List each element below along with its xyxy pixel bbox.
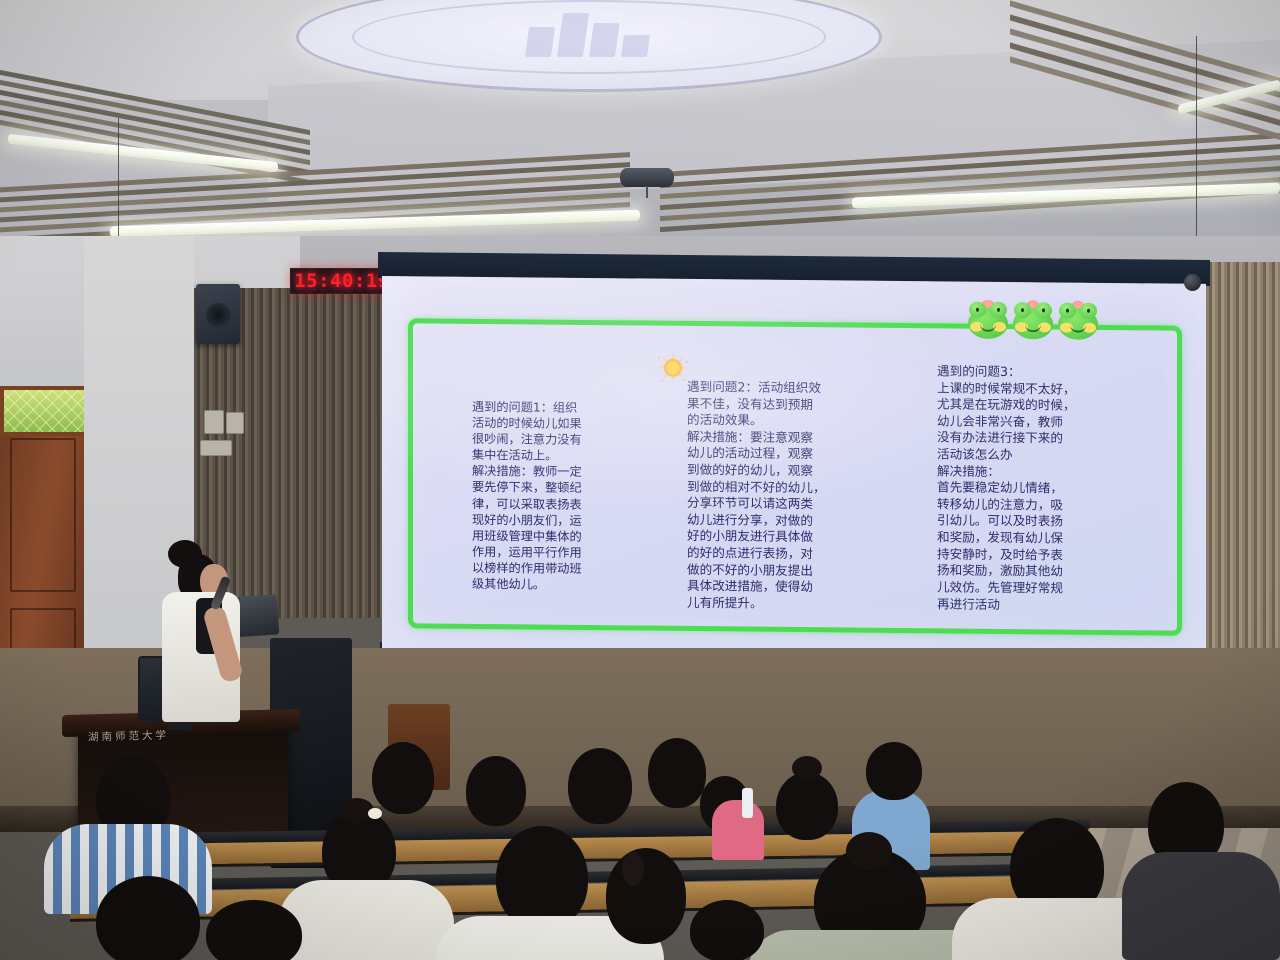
audience-head xyxy=(372,742,434,814)
frog-decoration-row xyxy=(966,300,1100,341)
audience-shoulders xyxy=(1122,852,1280,960)
audience-head xyxy=(866,742,922,800)
wall-control-box-2[interactable] xyxy=(226,412,244,434)
audience-head xyxy=(648,738,706,808)
audience-person-pink xyxy=(712,800,764,860)
wall-control-box-3[interactable] xyxy=(200,440,232,456)
wall-control-box-1[interactable] xyxy=(204,410,224,434)
audience-head xyxy=(690,900,764,960)
door-panel-upper xyxy=(10,438,76,592)
clock-time: 15:40:19 xyxy=(294,270,390,292)
lecture-hall-photo: 15:40:19 xyxy=(0,0,1280,960)
presentation-slide: 遇到的问题1：组织 活动的时候幼儿如果 很吵闹，注意力没有 集中在活动上。 解决… xyxy=(382,276,1206,656)
audience-head xyxy=(466,756,526,826)
audience-head xyxy=(96,876,200,960)
window-security-grille xyxy=(4,390,88,432)
water-bottle xyxy=(742,788,753,818)
frog-icon xyxy=(1056,300,1100,340)
slide-column-problem-2: 遇到问题2：活动组织效 果不佳，没有达到预期 的活动效果。 解决措施：要注意观察… xyxy=(687,379,873,613)
audience-hair-bun xyxy=(792,756,822,780)
audience-hair-clip xyxy=(622,852,644,886)
hair-tie xyxy=(368,808,382,819)
audience-head xyxy=(496,826,588,930)
audience-shoulders xyxy=(278,880,454,960)
ceiling xyxy=(0,0,1280,262)
slide-column-problem-1: 遇到的问题1：组织 活动的时候幼儿如果 很吵闹，注意力没有 集中在活动上。 解决… xyxy=(472,399,632,594)
emblem-mark xyxy=(525,13,653,57)
projector-mount xyxy=(646,186,648,198)
projector xyxy=(620,168,674,187)
frog-icon xyxy=(1011,300,1055,340)
wall-speaker-right xyxy=(196,284,240,344)
frog-icon xyxy=(966,300,1010,340)
door-transom-window xyxy=(0,386,92,436)
presenter xyxy=(150,540,270,730)
audience-head xyxy=(776,772,838,840)
projection-screen: 遇到的问题1：组织 活动的时候幼儿如果 很吵闹，注意力没有 集中在活动上。 解决… xyxy=(378,252,1210,672)
sparkle-star-icon xyxy=(656,351,690,385)
slide-column-problem-3: 遇到的问题3： 上课的时候常规不太好， 尤其是在玩游戏的时候， 幼儿会非常兴奋，… xyxy=(937,363,1137,614)
dome-camera-icon xyxy=(1184,274,1201,291)
audience-hair-bun xyxy=(846,832,892,870)
audience-head xyxy=(568,748,632,824)
hanging-wire-right xyxy=(1196,36,1197,258)
audience-head xyxy=(606,848,686,944)
